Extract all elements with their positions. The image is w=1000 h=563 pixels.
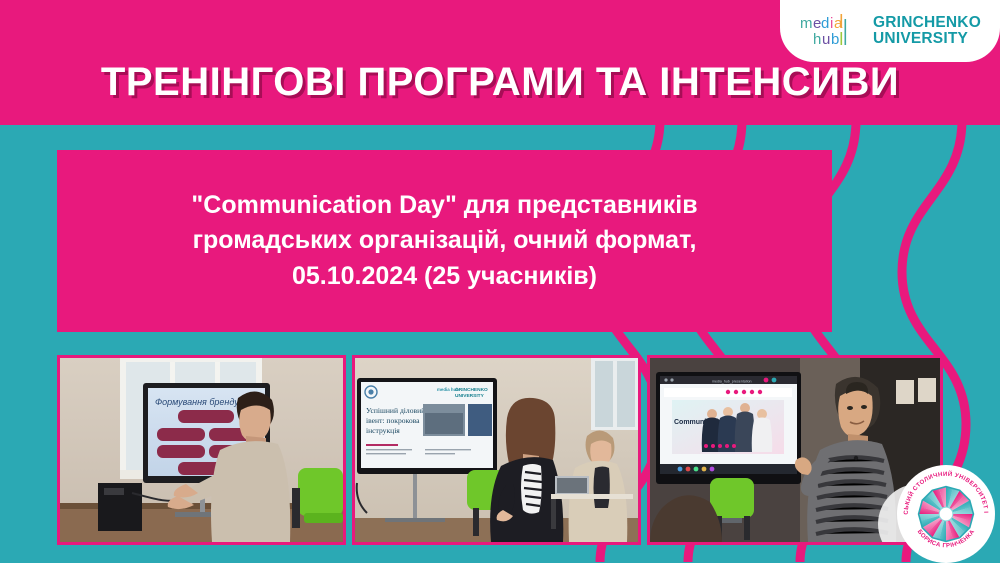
grinchenko-line-2: UNIVERSITY <box>873 31 981 47</box>
svg-text:u: u <box>822 31 830 48</box>
svg-text:m: m <box>800 15 813 32</box>
page-title: ТРЕНІНГОВІ ПРОГРАМИ ТА ІНТЕНСИВИ <box>0 60 1000 105</box>
mediahub-logo-icon: m e d i a h u b <box>799 11 861 51</box>
grinchenko-university-label: GRINCHENKO UNIVERSITY <box>873 15 981 48</box>
university-emblem: КИЇВСЬКИЙ СТОЛИЧНИЙ УНІВЕРСИТЕТ ІМЕНІ БО… <box>897 465 995 563</box>
event-description-text: "Communication Day" для представників гр… <box>191 188 697 295</box>
svg-text:d: d <box>821 15 829 32</box>
svg-text:h: h <box>813 31 821 48</box>
svg-text:інструкція: інструкція <box>366 426 400 435</box>
svg-text:b: b <box>831 31 839 48</box>
svg-text:GRINCHENKO: GRINCHENKO <box>455 387 488 393</box>
svg-text:івент: покрокова: івент: покрокова <box>366 416 420 425</box>
svg-text:Успішний діловий: Успішний діловий <box>366 406 425 415</box>
svg-text:UNIVERSITY: UNIVERSITY <box>455 393 485 399</box>
logo-plate: m e d i a h u b GRINCHENKO UNIVERSITY <box>780 0 1000 62</box>
photo-speaker-event-instruction: media hub GRINCHENKO UNIVERSITY Успішний… <box>352 355 641 545</box>
svg-text:i: i <box>830 15 833 32</box>
grinchenko-line-1: GRINCHENKO <box>873 15 981 31</box>
photo-presenter-branding: Формування бренду <box>57 355 346 545</box>
svg-text:media_hub_presentation: media_hub_presentation <box>712 380 752 384</box>
svg-text:Формування бренду: Формування бренду <box>155 397 239 407</box>
event-description-card: "Communication Day" для представників гр… <box>57 150 832 332</box>
